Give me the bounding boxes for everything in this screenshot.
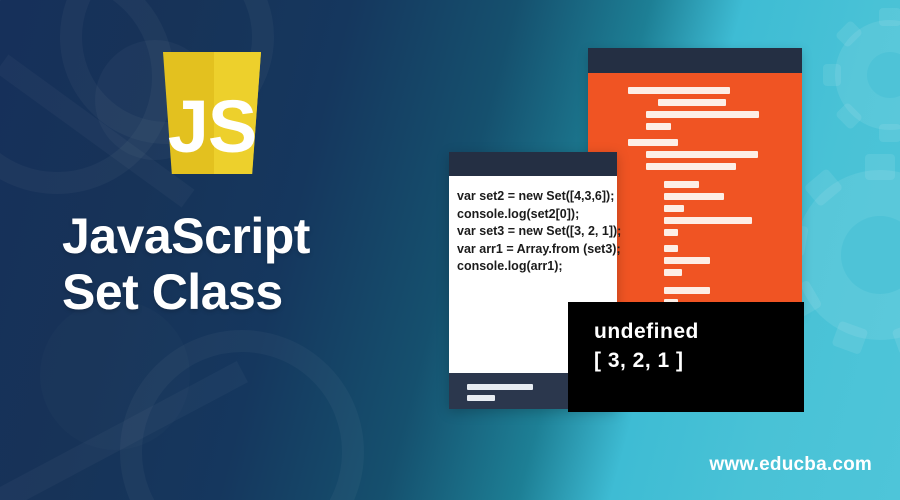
code-window-front-titlebar xyxy=(449,152,617,176)
gear-tooth xyxy=(831,320,868,355)
code-line-placeholder xyxy=(664,269,682,276)
gear-shape xyxy=(795,170,900,340)
decor-ring-3 xyxy=(120,330,364,500)
status-line-placeholder xyxy=(467,384,533,390)
code-snippet-line: var set3 = new Set([3, 2, 1]); xyxy=(457,223,621,241)
gear-tooth xyxy=(835,102,863,130)
code-line-placeholder xyxy=(664,193,724,200)
code-snippet-line: console.log(set2[0]); xyxy=(457,206,621,224)
code-snippet-line: var arr1 = Array.from (set3); xyxy=(457,241,621,259)
gear-tooth xyxy=(879,124,900,142)
gear-tooth xyxy=(804,168,844,207)
code-line-placeholder xyxy=(646,163,736,170)
gear-tooth xyxy=(879,8,900,26)
page-title-line-1: JavaScript xyxy=(62,208,462,264)
gear-hole xyxy=(841,216,900,294)
js-logo-text: JS xyxy=(163,52,261,174)
code-line-placeholder xyxy=(646,111,759,118)
decor-ring-1 xyxy=(0,0,174,194)
gear-body xyxy=(835,20,900,130)
code-snippet-line: console.log(arr1); xyxy=(457,258,621,276)
code-line-placeholder xyxy=(664,257,710,264)
code-line-placeholder xyxy=(646,151,758,158)
code-line-placeholder xyxy=(628,139,678,146)
code-line-placeholder xyxy=(664,245,678,252)
gear-tooth xyxy=(865,154,895,180)
footer-website-url[interactable]: www.educba.com xyxy=(709,454,872,476)
javascript-logo-icon: JS xyxy=(163,52,261,174)
status-line-placeholder xyxy=(467,395,495,401)
code-snippet: var set2 = new Set([4,3,6]); console.log… xyxy=(457,188,621,276)
code-line-placeholder xyxy=(628,87,730,94)
decor-disc-2 xyxy=(40,300,190,450)
gear-body xyxy=(795,170,900,340)
code-line-placeholder xyxy=(664,229,678,236)
gear-shape-small xyxy=(835,20,900,130)
gear-tooth xyxy=(823,64,841,86)
console-output-text: undefined [ 3, 2, 1 ] xyxy=(568,302,804,375)
code-line-placeholder xyxy=(664,205,684,212)
gear-hole xyxy=(867,52,900,98)
code-line-placeholder xyxy=(664,287,710,294)
page-title-line-2: Set Class xyxy=(62,264,462,320)
console-output-line: [ 3, 2, 1 ] xyxy=(594,346,804,375)
code-line-placeholder xyxy=(664,217,752,224)
gear-tooth xyxy=(892,320,900,355)
banner-root: JS JavaScript Set Class xyxy=(0,0,900,500)
code-line-placeholder xyxy=(658,99,726,106)
console-output-line: undefined xyxy=(594,317,804,346)
decor-bar-2 xyxy=(0,361,248,500)
code-line-placeholder xyxy=(646,123,671,130)
code-snippet-line: var set2 = new Set([4,3,6]); xyxy=(457,188,621,206)
code-line-placeholder xyxy=(664,181,699,188)
code-window-back-titlebar xyxy=(588,48,802,73)
console-output-box: undefined [ 3, 2, 1 ] xyxy=(568,302,804,412)
page-title: JavaScript Set Class xyxy=(62,208,462,320)
gear-tooth xyxy=(835,20,863,48)
